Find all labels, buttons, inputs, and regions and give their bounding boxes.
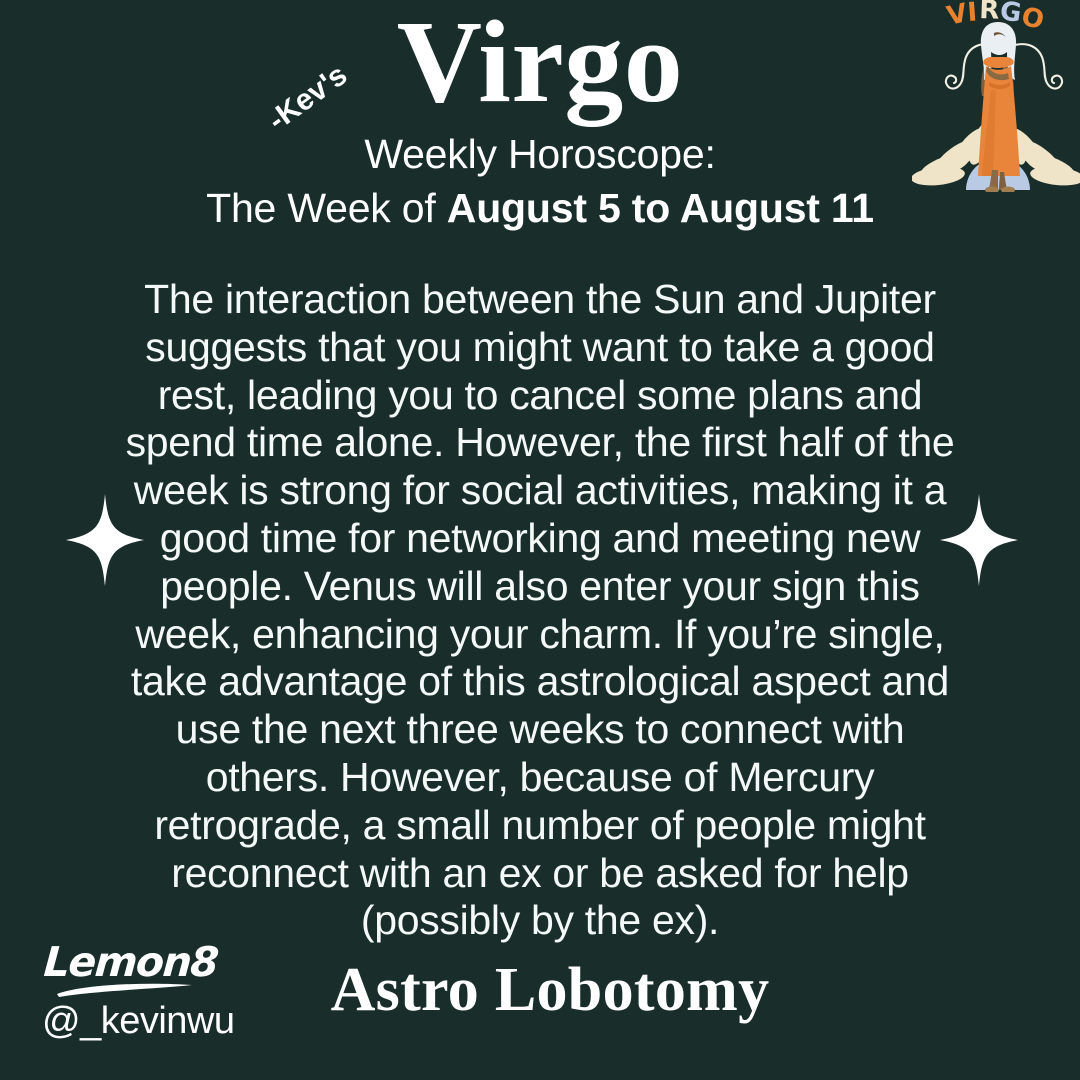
subtitle-dates: August 5 to August 11 xyxy=(447,185,874,231)
horoscope-line: rest, leading you to cancel some plans a… xyxy=(120,372,960,420)
page-title: Virgo xyxy=(0,0,1080,125)
horoscope-graphic: V I R G O xyxy=(0,0,1080,1080)
horoscope-line: people. Venus will also enter your sign … xyxy=(120,563,960,611)
account-handle: @_kevinwu xyxy=(42,1000,235,1043)
horoscope-line: reconnect with an ex or be asked for hel… xyxy=(120,850,960,898)
horoscope-line: The interaction between the Sun and Jupi… xyxy=(120,276,960,324)
horoscope-line: others. However, because of Mercury xyxy=(120,754,960,802)
horoscope-line: good time for networking and meeting new xyxy=(120,515,960,563)
horoscope-line: spend time alone. However, the first hal… xyxy=(120,419,960,467)
horoscope-line: suggests that you might want to take a g… xyxy=(120,324,960,372)
lemon8-logo: Lemon8 xyxy=(44,938,234,1004)
subtitle-line-2: The Week of August 5 to August 11 xyxy=(0,185,1080,232)
lemon8-logo-text: Lemon8 xyxy=(42,938,219,986)
account-title: Astro Lobotomy xyxy=(240,955,860,1026)
horoscope-line: take advantage of this astrological aspe… xyxy=(120,658,960,706)
horoscope-line: week is strong for social activities, ma… xyxy=(120,467,960,515)
horoscope-body: The interaction between the Sun and Jupi… xyxy=(120,276,960,945)
horoscope-line: use the next three weeks to connect with xyxy=(120,706,960,754)
subtitle-prefix: The Week of xyxy=(206,185,447,231)
horoscope-line: (possibly by the ex). xyxy=(120,897,960,945)
horoscope-line: retrograde, a small number of people mig… xyxy=(120,802,960,850)
subtitle-line-1: Weekly Horoscope: xyxy=(0,131,1080,178)
horoscope-line: week, enhancing your charm. If you’re si… xyxy=(120,611,960,659)
